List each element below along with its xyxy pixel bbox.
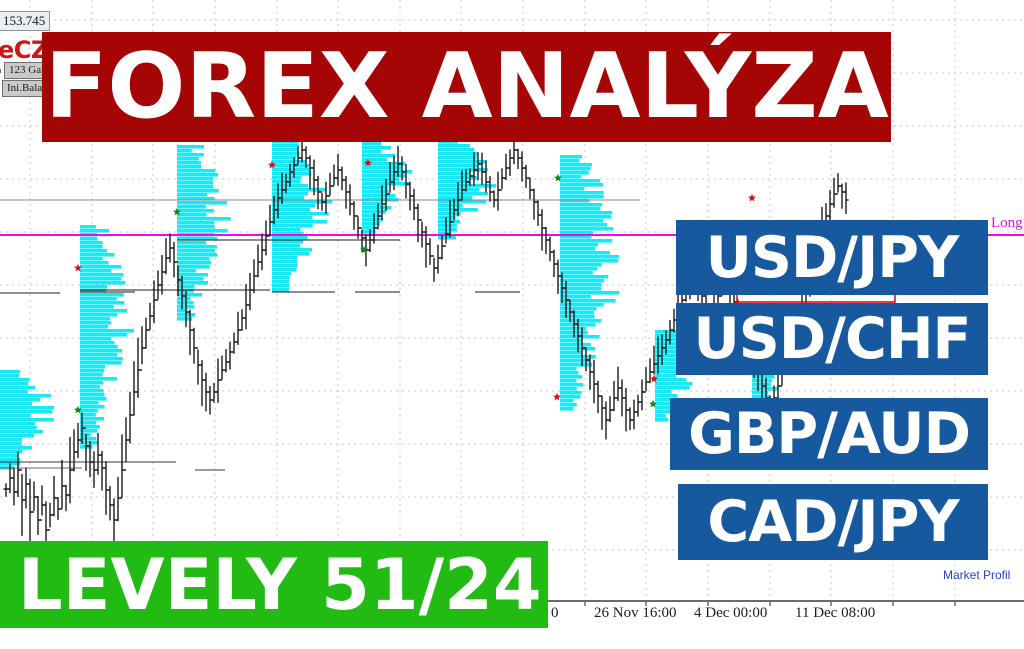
levels-text: LEVELY 51/24: [0, 549, 542, 621]
toolbar-icon-button[interactable]: [0, 69, 1, 73]
pair-box-gbpaud: GBP/AUD: [670, 398, 988, 470]
x-axis-tick-label: 0: [551, 604, 559, 622]
pair-label: USD/CHF: [694, 310, 971, 368]
x-axis-tick-label: 26 Nov 16:00: [594, 604, 677, 622]
x-axis-tick-label: 11 Dec 08:00: [795, 604, 875, 622]
pair-box-usdjpy: USD/JPY: [676, 220, 988, 295]
pair-label: USD/JPY: [706, 229, 959, 287]
market-profile-label: Market Profil: [943, 568, 1010, 582]
screenshot-root: 153.745 eCZ. 123 Gap Ini.Balance Long Ma…: [0, 0, 1024, 649]
pair-label: GBP/AUD: [688, 405, 970, 463]
title-text: FOREX ANALÝZA: [44, 41, 888, 133]
price-label: 153.745: [0, 11, 50, 31]
x-axis-tick-label: 4 Dec 00:00: [694, 604, 767, 622]
pair-label: CAD/JPY: [707, 493, 958, 551]
pair-box-usdchf: USD/CHF: [676, 303, 988, 375]
pair-box-cadjpy: CAD/JPY: [678, 484, 988, 560]
title-banner: FOREX ANALÝZA: [42, 32, 891, 142]
levels-banner: LEVELY 51/24: [0, 541, 548, 628]
long-level-label: Long: [991, 215, 1023, 232]
